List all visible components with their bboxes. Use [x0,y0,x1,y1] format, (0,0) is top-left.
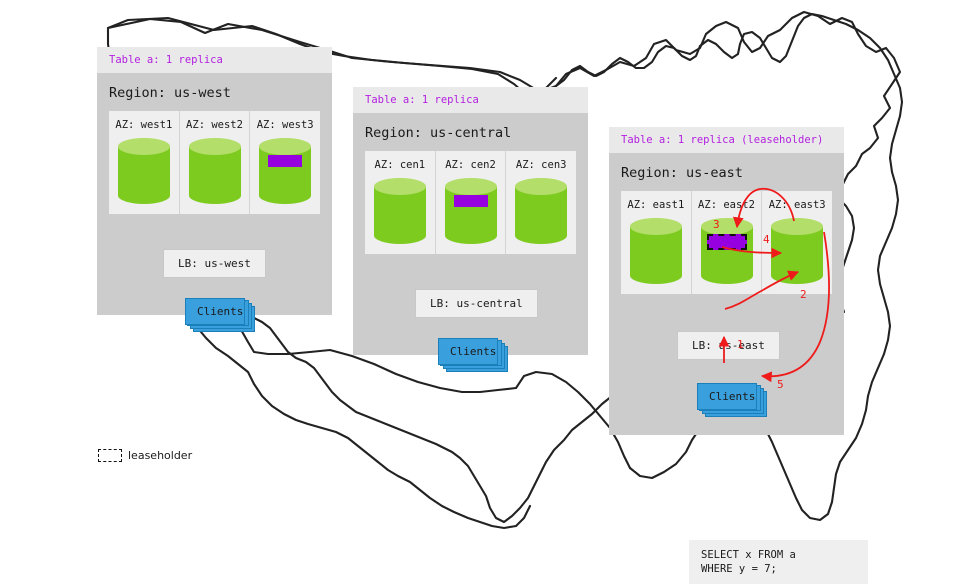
az-label-west2: AZ: west2 [186,119,243,131]
cylinder-top [445,178,497,195]
az-label-west3: AZ: west3 [257,119,314,131]
legend-label: leaseholder [128,449,192,462]
node-cylinder-cen1[interactable] [374,178,426,244]
panel-body-us-east: Region: us-east AZ: east1 AZ: east2 [609,153,844,435]
az-cell-west2[interactable]: AZ: west2 [180,111,251,214]
cylinder-top [118,138,170,155]
az-label-east2: AZ: east2 [698,199,755,211]
az-row-us-east: AZ: east1 AZ: east2 [621,191,832,294]
cylinder-top [771,218,823,235]
load-balancer-us-central[interactable]: LB: us-central [415,289,538,318]
az-label-cen2: AZ: cen2 [445,159,496,171]
clients-label-us-east[interactable]: Clients [697,383,757,410]
panel-title-us-east: Table a: 1 replica (leaseholder) [609,127,844,153]
diagram-canvas: Table a: 1 replica Region: us-west AZ: w… [0,0,960,540]
clients-node-us-west[interactable]: Clients [185,298,247,330]
node-cylinder-west2[interactable] [189,138,241,204]
leaseholder-replica-badge-east2 [707,234,747,250]
node-cylinder-east3[interactable] [771,218,823,284]
region-panel-us-east: Table a: 1 replica (leaseholder) Region:… [609,127,844,435]
az-cell-east3[interactable]: AZ: east3 [762,191,832,294]
replica-badge-cen2 [454,195,488,207]
sql-query-box: SELECT x FROM a WHERE y = 7; [689,540,868,584]
load-balancer-us-east[interactable]: LB: us-east [677,331,780,360]
clients-node-us-central[interactable]: Clients [438,338,500,370]
node-cylinder-east1[interactable] [630,218,682,284]
panel-title-us-west: Table a: 1 replica [97,47,332,73]
load-balancer-us-west[interactable]: LB: us-west [163,249,266,278]
node-cylinder-cen2[interactable] [445,178,497,244]
region-panel-us-central: Table a: 1 replica Region: us-central AZ… [353,87,588,355]
cylinder-top [259,138,311,155]
arrow-step-number-5: 5 [777,378,784,391]
panel-title-us-central: Table a: 1 replica [353,87,588,113]
az-cell-east1[interactable]: AZ: east1 [621,191,692,294]
az-cell-cen2[interactable]: AZ: cen2 [436,151,507,254]
dashed-rect-icon [98,449,122,462]
az-cell-cen1[interactable]: AZ: cen1 [365,151,436,254]
region-label-us-east: Region: us-east [609,153,844,191]
node-cylinder-cen3[interactable] [515,178,567,244]
az-label-cen1: AZ: cen1 [375,159,426,171]
node-cylinder-west1[interactable] [118,138,170,204]
region-label-us-central: Region: us-central [353,113,588,151]
legend-leaseholder: leaseholder [98,449,192,462]
az-cell-cen3[interactable]: AZ: cen3 [506,151,576,254]
node-cylinder-west3[interactable] [259,138,311,204]
cylinder-top [374,178,426,195]
arrow-step-number-1: 1 [737,338,744,351]
az-label-east1: AZ: east1 [627,199,684,211]
cylinder-top [630,218,682,235]
az-cell-east2[interactable]: AZ: east2 [692,191,763,294]
region-label-us-west: Region: us-west [97,73,332,111]
panel-body-us-west: Region: us-west AZ: west1 AZ: west2 [97,73,332,315]
arrow-step-number-3: 3 [713,218,720,231]
cylinder-top [189,138,241,155]
clients-label-us-west[interactable]: Clients [185,298,245,325]
arrow-step-number-4: 4 [763,233,770,246]
region-panel-us-west: Table a: 1 replica Region: us-west AZ: w… [97,47,332,315]
az-label-west1: AZ: west1 [115,119,172,131]
cylinder-top [515,178,567,195]
node-cylinder-east2[interactable] [701,218,753,284]
arrow-step-number-2: 2 [800,288,807,301]
clients-node-us-east[interactable]: Clients [697,383,759,415]
panel-body-us-central: Region: us-central AZ: cen1 AZ: cen2 [353,113,588,355]
az-cell-west1[interactable]: AZ: west1 [109,111,180,214]
clients-label-us-central[interactable]: Clients [438,338,498,365]
cylinder-top [701,218,753,235]
az-cell-west3[interactable]: AZ: west3 [250,111,320,214]
az-label-east3: AZ: east3 [769,199,826,211]
az-label-cen3: AZ: cen3 [516,159,567,171]
replica-badge-west3 [268,155,302,167]
az-row-us-west: AZ: west1 AZ: west2 AZ [109,111,320,214]
az-row-us-central: AZ: cen1 AZ: cen2 [365,151,576,254]
